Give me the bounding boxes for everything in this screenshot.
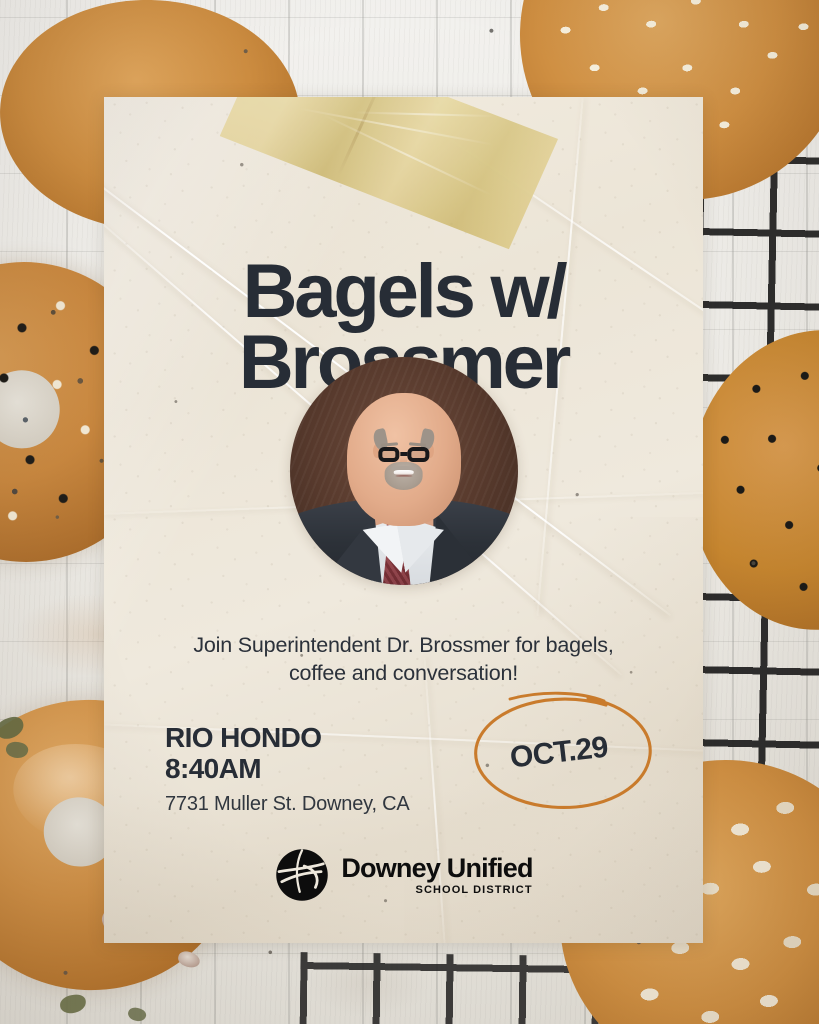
eyeglasses-icon [378, 447, 429, 462]
logo-name-secondary: SCHOOL DISTRICT [341, 885, 532, 896]
glasses-bridge [400, 452, 407, 456]
downey-unified-logo: Downey Unified SCHOOL DISTRICT [104, 847, 703, 903]
event-details: RIO HONDO 8:40AM 7731 Muller St. Downey,… [165, 722, 495, 816]
superintendent-portrait [290, 357, 518, 585]
poster-subtitle: Join Superintendent Dr. Brossmer for bag… [164, 631, 643, 688]
date-badge: OCT.29 [456, 683, 661, 818]
downey-unified-globe-icon [274, 847, 330, 903]
lens-left [378, 447, 400, 462]
lower-lip [395, 475, 412, 478]
subtitle-line-2: coffee and conversation! [289, 661, 518, 685]
poster: Bagels w/Brossmer [0, 0, 819, 1024]
event-time: 8:40AM [165, 753, 495, 784]
paper-flyer-card: Bagels w/Brossmer [104, 97, 703, 943]
logo-wordmark: Downey Unified SCHOOL DISTRICT [341, 855, 532, 896]
event-venue: RIO HONDO [165, 722, 495, 753]
head [347, 393, 461, 525]
logo-name-primary: Downey Unified [341, 855, 532, 882]
lens-right [408, 447, 430, 462]
subtitle-line-1: Join Superintendent Dr. Brossmer for bag… [193, 633, 613, 657]
event-address: 7731 Muller St. Downey, CA [165, 793, 495, 816]
